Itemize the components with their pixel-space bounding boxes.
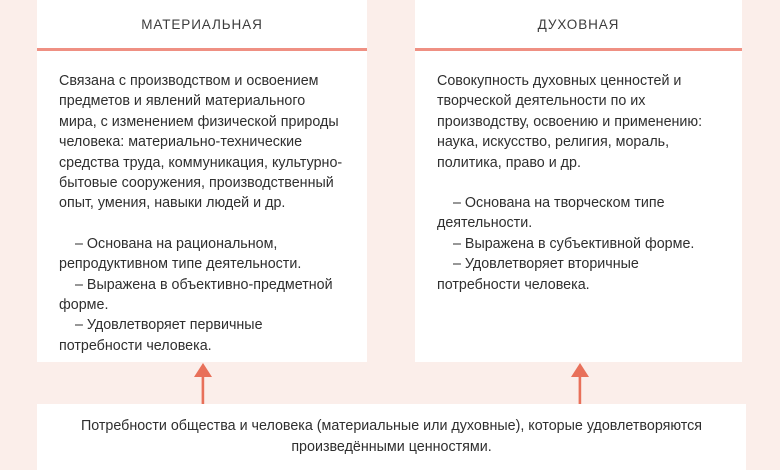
- bullet-item: – Основана на рациональном, репродуктивн…: [59, 234, 345, 275]
- card-header-material: МАТЕРИАЛЬНАЯ: [37, 0, 367, 48]
- needs-summary-panel: Потребности общества и человека (материа…: [37, 404, 746, 470]
- bullet-item: – Основана на творческом типе деятельнос…: [437, 193, 720, 234]
- card-material-culture: МАТЕРИАЛЬНАЯ Связана с производством и о…: [37, 0, 367, 362]
- card-body-spiritual: Совокупность духовных ценностей и творче…: [415, 51, 742, 295]
- card-title-spiritual: ДУХОВНАЯ: [538, 17, 620, 32]
- card-title-material: МАТЕРИАЛЬНАЯ: [141, 17, 262, 32]
- bullet-item: – Удовлетворяет первичные потребности че…: [59, 315, 345, 356]
- needs-summary-text: Потребности общества и человека (материа…: [67, 416, 716, 458]
- diagram-canvas: МАТЕРИАЛЬНАЯ Связана с производством и о…: [0, 0, 780, 470]
- card-spiritual-culture: ДУХОВНАЯ Совокупность духовных ценностей…: [415, 0, 742, 362]
- card-bullet-list-material: – Основана на рациональном, репродуктивн…: [59, 234, 345, 356]
- card-header-spiritual: ДУХОВНАЯ: [415, 0, 742, 48]
- card-paragraph-material: Связана с производством и освоением пред…: [59, 71, 345, 214]
- card-body-material: Связана с производством и освоением пред…: [37, 51, 367, 356]
- bullet-item: – Выражена в субъективной форме.: [437, 234, 720, 254]
- arrow-up-icon: [569, 363, 591, 405]
- card-paragraph-spiritual: Совокупность духовных ценностей и творче…: [437, 71, 720, 173]
- bullet-item: – Выражена в объективно-предметной форме…: [59, 275, 345, 316]
- bullet-item: – Удовлетворяет вторичные потребности че…: [437, 254, 720, 295]
- card-bullet-list-spiritual: – Основана на творческом типе деятельнос…: [437, 193, 720, 295]
- needs-summary-line-1: Потребности общества и человека (материа…: [81, 418, 583, 434]
- arrow-up-icon: [192, 363, 214, 405]
